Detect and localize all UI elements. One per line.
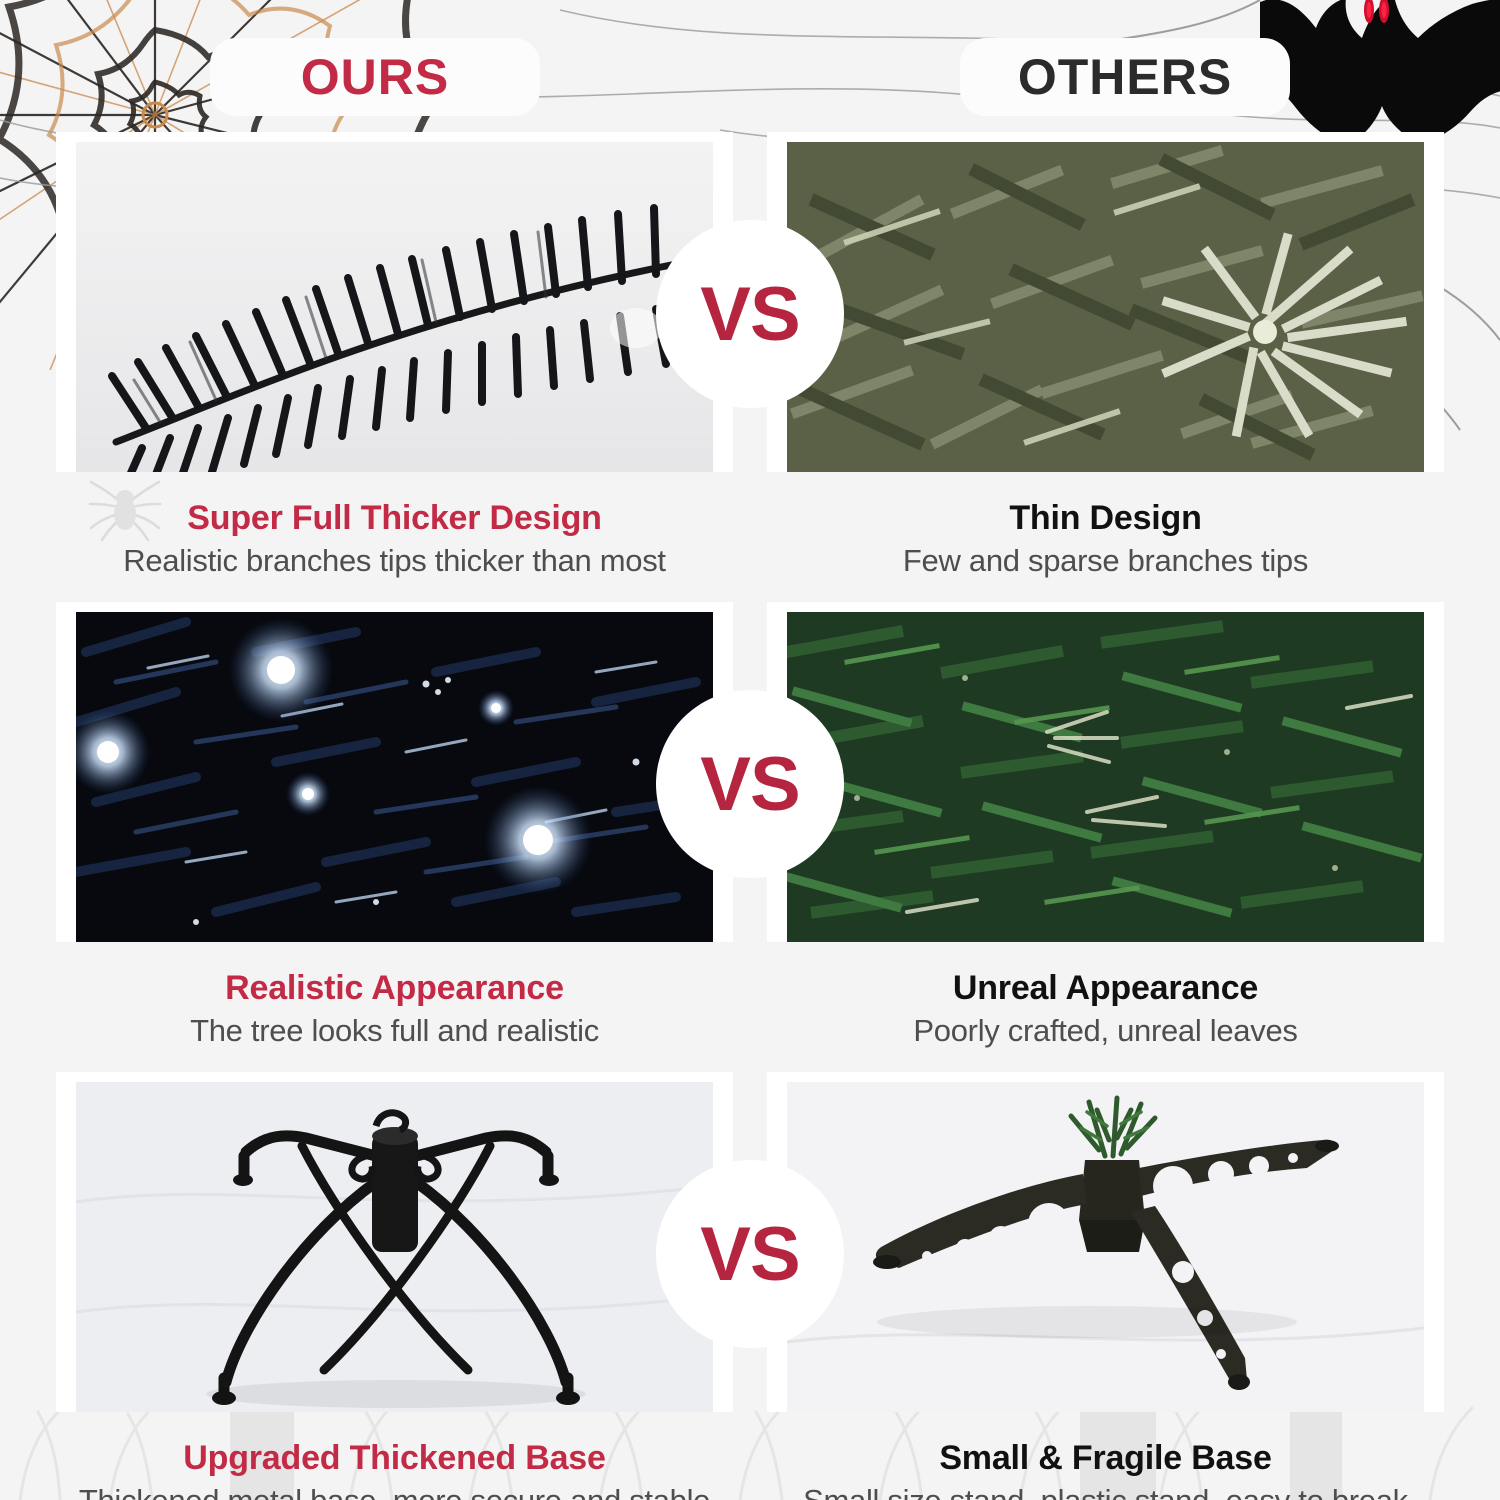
others-title-3: Small & Fragile Base <box>767 1438 1444 1478</box>
ours-card-3 <box>56 1072 733 1412</box>
ours-title-2: Realistic Appearance <box>56 968 733 1008</box>
others-card-1 <box>767 132 1444 472</box>
vs-badge-1: VS <box>656 220 844 408</box>
others-header-col: OTHERS <box>750 38 1500 116</box>
others-subtitle-2: Poorly crafted, unreal leaves <box>767 1012 1444 1050</box>
vs-badge-2: VS <box>656 690 844 878</box>
ours-photo-2 <box>76 612 713 942</box>
ours-card-2 <box>56 602 733 942</box>
vs-label: VS <box>700 741 799 828</box>
others-subtitle-3: Small size stand, plastic stand, easy to… <box>767 1482 1444 1500</box>
ours-caption-1: Super Full Thicker Design Realistic bran… <box>56 484 733 596</box>
ours-header-col: OURS <box>0 38 750 116</box>
column-headers: OURS OTHERS <box>0 38 1500 116</box>
ours-subtitle-1: Realistic branches tips thicker than mos… <box>56 542 733 580</box>
others-header-pill: OTHERS <box>960 38 1290 116</box>
others-caption-1: Thin Design Few and sparse branches tips <box>767 484 1444 596</box>
vs-label: VS <box>700 1211 799 1298</box>
ours-photo-1 <box>76 142 713 472</box>
comparison-row-appearance: VS <box>0 602 1500 942</box>
vs-badge-3: VS <box>656 1160 844 1348</box>
others-title-2: Unreal Appearance <box>767 968 1444 1008</box>
others-caption-3: Small & Fragile Base Small size stand, p… <box>767 1424 1444 1500</box>
comparison-infographic: OURS OTHERS <box>0 0 1500 1500</box>
ours-header-pill: OURS <box>210 38 540 116</box>
ours-subtitle-2: The tree looks full and realistic <box>56 1012 733 1050</box>
ours-caption-2: Realistic Appearance The tree looks full… <box>56 954 733 1066</box>
others-photo-2 <box>787 612 1424 942</box>
others-photo-1 <box>787 142 1424 472</box>
others-title-1: Thin Design <box>767 498 1444 538</box>
vs-label: VS <box>700 271 799 358</box>
others-subtitle-1: Few and sparse branches tips <box>767 542 1444 580</box>
others-photo-3 <box>787 1082 1424 1412</box>
ours-card-1 <box>56 132 733 472</box>
ours-title-1: Super Full Thicker Design <box>56 498 733 538</box>
comparison-row-branch-density: VS <box>0 132 1500 472</box>
ours-photo-3 <box>76 1082 713 1412</box>
comparison-grid: VS <box>0 132 1500 1424</box>
others-card-3 <box>767 1072 1444 1412</box>
others-card-2 <box>767 602 1444 942</box>
ours-caption-3: Upgraded Thickened Base Thickened metal … <box>56 1424 733 1500</box>
comparison-row-base-stand: VS <box>0 1072 1500 1412</box>
ours-subtitle-3: Thickened metal base, more secure and st… <box>56 1482 733 1500</box>
others-caption-2: Unreal Appearance Poorly crafted, unreal… <box>767 954 1444 1066</box>
ours-title-3: Upgraded Thickened Base <box>56 1438 733 1478</box>
